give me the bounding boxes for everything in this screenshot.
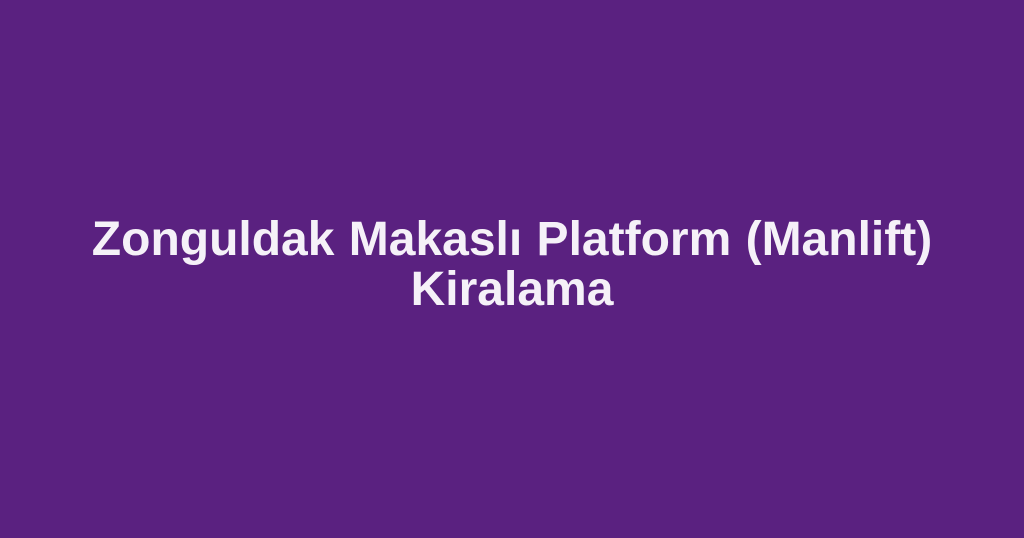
page-title: Zonguldak Makaslı Platform (Manlift) Kir… [82, 215, 942, 315]
page-banner: Zonguldak Makaslı Platform (Manlift) Kir… [0, 0, 1024, 538]
title-block: Zonguldak Makaslı Platform (Manlift) Kir… [82, 215, 942, 315]
